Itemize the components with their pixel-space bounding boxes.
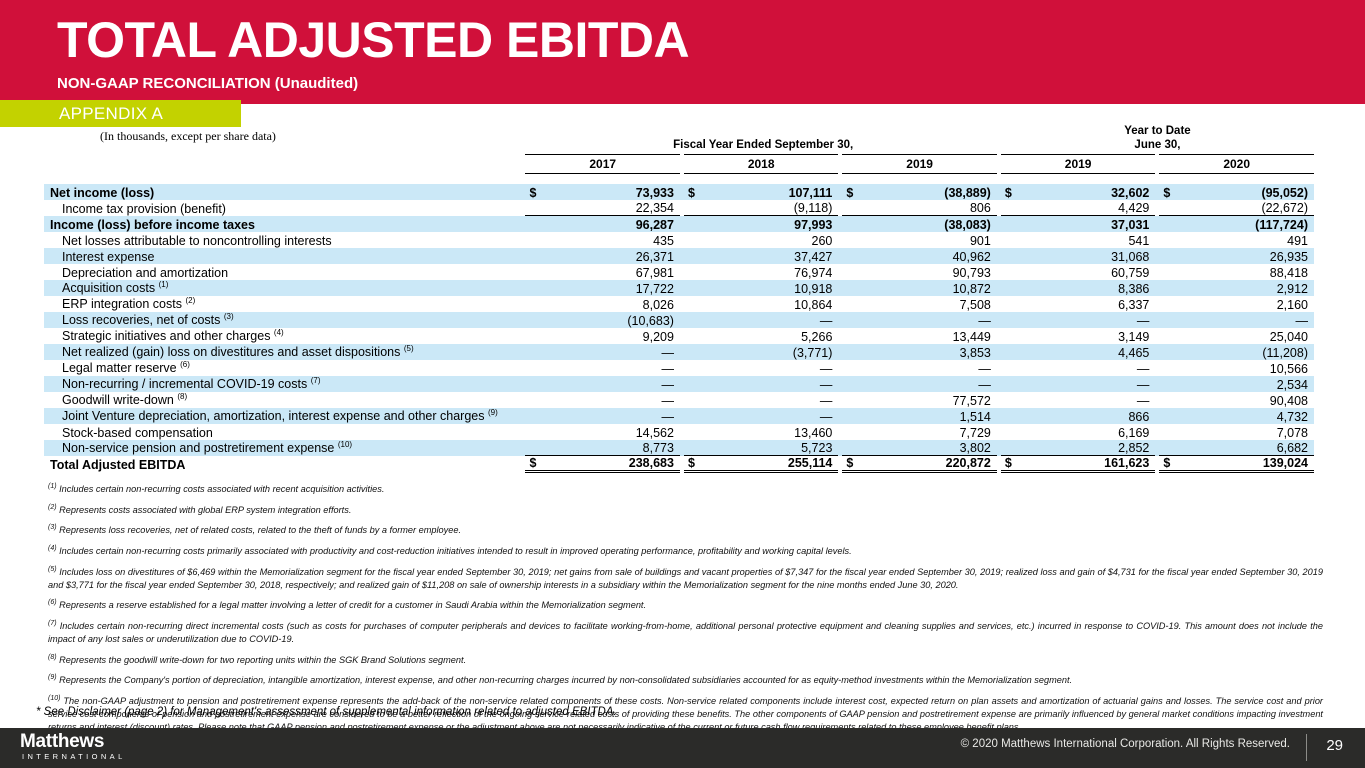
footnotes-list: (1) Includes certain non-recurring costs… bbox=[48, 482, 1323, 741]
currency-symbol-cell bbox=[842, 264, 862, 280]
currency-symbol-cell bbox=[842, 312, 862, 328]
row-label: Joint Venture depreciation, amortization… bbox=[44, 408, 525, 424]
data-cell: — bbox=[704, 360, 838, 376]
data-cell: 10,872 bbox=[862, 280, 996, 296]
footnote: (4) Includes certain non-recurring costs… bbox=[48, 544, 1323, 558]
table-row: Loss recoveries, net of costs (3)(10,683… bbox=[44, 312, 1314, 328]
currency-symbol-cell bbox=[684, 200, 704, 216]
currency-symbol-cell bbox=[525, 328, 545, 344]
row-label: Income tax provision (benefit) bbox=[44, 200, 525, 216]
col-group-fiscal-year: Fiscal Year Ended September 30, bbox=[525, 125, 1000, 155]
footnote-marker: (4) bbox=[48, 545, 57, 552]
currency-symbol-cell bbox=[842, 280, 862, 296]
currency-symbol-cell bbox=[1159, 328, 1179, 344]
table-row: ERP integration costs (2)8,02610,8647,50… bbox=[44, 296, 1314, 312]
data-cell: 22,354 bbox=[546, 200, 680, 216]
data-cell: 6,337 bbox=[1021, 296, 1155, 312]
data-cell: 435 bbox=[546, 232, 680, 248]
row-label: ERP integration costs (2) bbox=[44, 296, 525, 312]
total-currency-symbol: $ bbox=[1159, 456, 1179, 472]
data-cell: 13,460 bbox=[704, 424, 838, 440]
table-row: Net losses attributable to noncontrollin… bbox=[44, 232, 1314, 248]
data-cell: 40,962 bbox=[862, 248, 996, 264]
data-cell: 8,386 bbox=[1021, 280, 1155, 296]
currency-symbol-cell bbox=[684, 328, 704, 344]
currency-symbol-cell bbox=[1159, 392, 1179, 408]
matthews-logo: Matthews bbox=[20, 731, 104, 753]
data-cell: 67,981 bbox=[546, 264, 680, 280]
table-row: Non-recurring / incremental COVID-19 cos… bbox=[44, 376, 1314, 392]
footnote: (3) Represents loss recoveries, net of r… bbox=[48, 523, 1323, 537]
data-cell: (38,083) bbox=[862, 216, 996, 232]
footnote: (8) Represents the goodwill write-down f… bbox=[48, 653, 1323, 667]
row-label: Stock-based compensation bbox=[44, 424, 525, 440]
currency-symbol-cell bbox=[1159, 280, 1179, 296]
data-cell: 60,759 bbox=[1021, 264, 1155, 280]
row-label: Net losses attributable to noncontrollin… bbox=[44, 232, 525, 248]
currency-symbol-cell bbox=[684, 440, 704, 456]
currency-symbol-cell bbox=[684, 376, 704, 392]
row-label: Net realized (gain) loss on divestitures… bbox=[44, 344, 525, 360]
table-row: Stock-based compensation14,56213,4607,72… bbox=[44, 424, 1314, 440]
currency-symbol-cell bbox=[842, 376, 862, 392]
row-label: Income (loss) before income taxes bbox=[44, 216, 525, 232]
currency-symbol-cell bbox=[1001, 344, 1021, 360]
ytd-line2: June 30, bbox=[1001, 139, 1314, 153]
currency-symbol-cell bbox=[1001, 216, 1021, 232]
currency-symbol-cell bbox=[842, 248, 862, 264]
total-data-cell: 220,872 bbox=[862, 456, 996, 472]
col-header-2017: 2017 bbox=[525, 155, 679, 174]
table-row: Net realized (gain) loss on divestitures… bbox=[44, 344, 1314, 360]
data-cell: 806 bbox=[862, 200, 996, 216]
footnote-marker: (6) bbox=[48, 599, 57, 606]
currency-symbol-cell bbox=[525, 440, 545, 456]
currency-symbol-cell bbox=[525, 232, 545, 248]
data-cell: — bbox=[704, 312, 838, 328]
currency-symbol-cell bbox=[1001, 408, 1021, 424]
currency-symbol-cell bbox=[684, 248, 704, 264]
footnote: (1) Includes certain non-recurring costs… bbox=[48, 482, 1323, 496]
data-cell: 96,287 bbox=[546, 216, 680, 232]
currency-symbol-cell: $ bbox=[525, 184, 545, 200]
currency-symbol-cell bbox=[525, 200, 545, 216]
data-cell: 14,562 bbox=[546, 424, 680, 440]
data-cell: 32,602 bbox=[1021, 184, 1155, 200]
footnote-marker: (8) bbox=[48, 654, 57, 661]
data-cell: 7,078 bbox=[1179, 424, 1314, 440]
data-cell: (22,672) bbox=[1179, 200, 1314, 216]
currency-symbol-cell bbox=[842, 360, 862, 376]
data-cell: 866 bbox=[1021, 408, 1155, 424]
col-header-2020-ytd: 2020 bbox=[1159, 155, 1314, 174]
data-cell: 77,572 bbox=[862, 392, 996, 408]
data-cell: (95,052) bbox=[1179, 184, 1314, 200]
data-cell: 4,465 bbox=[1021, 344, 1155, 360]
footnote-marker: (2) bbox=[48, 504, 57, 511]
currency-symbol-cell bbox=[842, 200, 862, 216]
data-cell: — bbox=[1021, 360, 1155, 376]
total-currency-symbol: $ bbox=[1001, 456, 1021, 472]
ytd-line1: Year to Date bbox=[1001, 125, 1314, 139]
data-cell: 5,266 bbox=[704, 328, 838, 344]
col-header-2018: 2018 bbox=[684, 155, 838, 174]
footnote: (7) Includes certain non-recurring direc… bbox=[48, 619, 1323, 646]
data-cell: (117,724) bbox=[1179, 216, 1314, 232]
footnote-marker: (8) bbox=[177, 392, 187, 401]
currency-symbol-cell bbox=[525, 424, 545, 440]
data-cell: 26,935 bbox=[1179, 248, 1314, 264]
currency-symbol-cell bbox=[684, 280, 704, 296]
total-currency-symbol: $ bbox=[525, 456, 545, 472]
currency-symbol-cell bbox=[525, 392, 545, 408]
data-cell: 2,912 bbox=[1179, 280, 1314, 296]
data-cell: 6,169 bbox=[1021, 424, 1155, 440]
data-cell: 4,429 bbox=[1021, 200, 1155, 216]
data-cell: 26,371 bbox=[546, 248, 680, 264]
data-cell: — bbox=[546, 360, 680, 376]
currency-symbol-cell bbox=[1159, 376, 1179, 392]
currency-symbol-cell bbox=[1001, 392, 1021, 408]
table-header: Fiscal Year Ended September 30, Year to … bbox=[44, 125, 1314, 184]
data-cell: 1,514 bbox=[862, 408, 996, 424]
row-label: Depreciation and amortization bbox=[44, 264, 525, 280]
data-cell: 10,864 bbox=[704, 296, 838, 312]
currency-symbol-cell bbox=[684, 344, 704, 360]
currency-symbol-cell bbox=[1001, 424, 1021, 440]
row-label: Goodwill write-down (8) bbox=[44, 392, 525, 408]
currency-symbol-cell bbox=[1159, 344, 1179, 360]
currency-symbol-cell bbox=[842, 344, 862, 360]
data-cell: 73,933 bbox=[546, 184, 680, 200]
currency-symbol-cell bbox=[684, 296, 704, 312]
data-cell: 9,209 bbox=[546, 328, 680, 344]
data-cell: 90,793 bbox=[862, 264, 996, 280]
page-title: TOTAL ADJUSTED EBITDA bbox=[57, 14, 689, 67]
col-group-ytd: Year to Date June 30, bbox=[1001, 125, 1314, 155]
total-currency-symbol: $ bbox=[684, 456, 704, 472]
data-cell: — bbox=[704, 376, 838, 392]
currency-symbol-cell bbox=[1159, 200, 1179, 216]
currency-symbol-cell bbox=[842, 440, 862, 456]
data-cell: 97,993 bbox=[704, 216, 838, 232]
currency-symbol-cell bbox=[1159, 216, 1179, 232]
table-row: Strategic initiatives and other charges … bbox=[44, 328, 1314, 344]
currency-symbol-cell bbox=[1001, 264, 1021, 280]
footnote: (2) Represents costs associated with glo… bbox=[48, 503, 1323, 517]
data-cell: 88,418 bbox=[1179, 264, 1314, 280]
appendix-label: APPENDIX A bbox=[59, 104, 163, 124]
currency-symbol-cell bbox=[842, 408, 862, 424]
data-cell: — bbox=[704, 392, 838, 408]
currency-symbol-cell bbox=[684, 264, 704, 280]
data-cell: — bbox=[704, 408, 838, 424]
data-cell: 13,449 bbox=[862, 328, 996, 344]
currency-symbol-cell bbox=[1159, 312, 1179, 328]
row-label: Net income (loss) bbox=[44, 184, 525, 200]
table-row: Income tax provision (benefit)22,354(9,1… bbox=[44, 200, 1314, 216]
data-cell: 2,160 bbox=[1179, 296, 1314, 312]
footnote-marker: (1) bbox=[159, 280, 169, 289]
currency-symbol-cell bbox=[525, 312, 545, 328]
total-data-cell: 255,114 bbox=[704, 456, 838, 472]
data-cell: 37,427 bbox=[704, 248, 838, 264]
data-cell: 17,722 bbox=[546, 280, 680, 296]
data-cell: — bbox=[862, 360, 996, 376]
data-cell: 2,852 bbox=[1021, 440, 1155, 456]
matthews-logo-subtitle: INTERNATIONAL bbox=[22, 752, 126, 761]
row-label: Acquisition costs (1) bbox=[44, 280, 525, 296]
footnote-marker: (10) bbox=[338, 440, 352, 449]
header-group-row: Fiscal Year Ended September 30, Year to … bbox=[44, 125, 1314, 155]
data-cell: 4,732 bbox=[1179, 408, 1314, 424]
currency-symbol-cell bbox=[842, 232, 862, 248]
data-cell: — bbox=[1021, 312, 1155, 328]
table-row: Net income (loss)$73,933$107,111$(38,889… bbox=[44, 184, 1314, 200]
data-cell: 901 bbox=[862, 232, 996, 248]
col-header-2019-ytd: 2019 bbox=[1001, 155, 1155, 174]
data-cell: (9,118) bbox=[704, 200, 838, 216]
data-cell: 10,566 bbox=[1179, 360, 1314, 376]
footnote-marker: (4) bbox=[274, 328, 284, 337]
currency-symbol-cell bbox=[1159, 360, 1179, 376]
footnote-marker: (9) bbox=[488, 408, 498, 417]
currency-symbol-cell bbox=[1001, 280, 1021, 296]
currency-symbol-cell bbox=[1001, 248, 1021, 264]
currency-symbol-cell bbox=[842, 424, 862, 440]
slide-root: TOTAL ADJUSTED EBITDA NON-GAAP RECONCILI… bbox=[0, 0, 1365, 768]
data-cell: 7,508 bbox=[862, 296, 996, 312]
footnote-marker: (1) bbox=[48, 483, 57, 490]
currency-symbol-cell bbox=[684, 408, 704, 424]
currency-symbol-cell bbox=[684, 360, 704, 376]
data-cell: (3,771) bbox=[704, 344, 838, 360]
data-cell: 7,729 bbox=[862, 424, 996, 440]
data-cell: (10,683) bbox=[546, 312, 680, 328]
data-cell: 8,773 bbox=[546, 440, 680, 456]
data-cell: — bbox=[546, 408, 680, 424]
currency-symbol-cell bbox=[684, 312, 704, 328]
footnote-marker: (7) bbox=[311, 376, 321, 385]
currency-symbol-cell bbox=[525, 408, 545, 424]
data-cell: (38,889) bbox=[862, 184, 996, 200]
currency-symbol-cell bbox=[1001, 328, 1021, 344]
currency-symbol-cell bbox=[1159, 248, 1179, 264]
currency-symbol-cell bbox=[1001, 376, 1021, 392]
row-label: Non-service pension and postretirement e… bbox=[44, 440, 525, 456]
data-cell: 3,853 bbox=[862, 344, 996, 360]
currency-symbol-cell bbox=[1159, 232, 1179, 248]
row-label: Non-recurring / incremental COVID-19 cos… bbox=[44, 376, 525, 392]
data-cell: 491 bbox=[1179, 232, 1314, 248]
table-row: Interest expense26,37137,42740,96231,068… bbox=[44, 248, 1314, 264]
total-data-cell: 161,623 bbox=[1021, 456, 1155, 472]
row-label: Loss recoveries, net of costs (3) bbox=[44, 312, 525, 328]
table-row: Non-service pension and postretirement e… bbox=[44, 440, 1314, 456]
currency-symbol-cell bbox=[525, 216, 545, 232]
footnote-marker: (7) bbox=[48, 620, 57, 627]
data-cell: 260 bbox=[704, 232, 838, 248]
currency-symbol-cell bbox=[1159, 424, 1179, 440]
currency-symbol-cell bbox=[1159, 296, 1179, 312]
total-row-label: Total Adjusted EBITDA bbox=[44, 456, 525, 472]
copyright-text: © 2020 Matthews International Corporatio… bbox=[961, 738, 1290, 750]
data-cell: 90,408 bbox=[1179, 392, 1314, 408]
total-data-cell: 238,683 bbox=[546, 456, 680, 472]
table-body: Net income (loss)$73,933$107,111$(38,889… bbox=[44, 184, 1314, 472]
table-row: Depreciation and amortization67,98176,97… bbox=[44, 264, 1314, 280]
data-cell: 3,149 bbox=[1021, 328, 1155, 344]
currency-symbol-cell bbox=[1001, 360, 1021, 376]
currency-symbol-cell bbox=[1159, 408, 1179, 424]
data-cell: — bbox=[546, 376, 680, 392]
currency-symbol-cell: $ bbox=[684, 184, 704, 200]
data-cell: 37,031 bbox=[1021, 216, 1155, 232]
footnote-marker: (6) bbox=[180, 360, 190, 369]
footnote: (5) Includes loss on divestitures of $6,… bbox=[48, 565, 1323, 592]
data-cell: — bbox=[1179, 312, 1314, 328]
table-row: Goodwill write-down (8)——77,572—90,408 bbox=[44, 392, 1314, 408]
currency-symbol-cell bbox=[1001, 232, 1021, 248]
currency-symbol-cell bbox=[525, 344, 545, 360]
currency-symbol-cell bbox=[1001, 200, 1021, 216]
currency-symbol-cell bbox=[842, 328, 862, 344]
currency-symbol-cell bbox=[1001, 440, 1021, 456]
data-cell: — bbox=[546, 392, 680, 408]
disclaimer-text: * See Disclaimer (page 2) for Management… bbox=[36, 706, 617, 718]
currency-symbol-cell bbox=[842, 216, 862, 232]
row-label: Legal matter reserve (6) bbox=[44, 360, 525, 376]
currency-symbol-cell bbox=[525, 376, 545, 392]
data-cell: 76,974 bbox=[704, 264, 838, 280]
page-subtitle: NON-GAAP RECONCILIATION (Unaudited) bbox=[57, 75, 358, 92]
currency-symbol-cell: $ bbox=[1159, 184, 1179, 200]
currency-symbol-cell bbox=[684, 232, 704, 248]
data-cell: 2,534 bbox=[1179, 376, 1314, 392]
financial-table: Fiscal Year Ended September 30, Year to … bbox=[44, 125, 1314, 473]
footnote-marker: (3) bbox=[224, 312, 234, 321]
data-cell: — bbox=[546, 344, 680, 360]
data-cell: 3,802 bbox=[862, 440, 996, 456]
financial-table-wrap: Fiscal Year Ended September 30, Year to … bbox=[44, 125, 1314, 473]
footer-divider bbox=[1306, 734, 1307, 761]
data-cell: 541 bbox=[1021, 232, 1155, 248]
table-row: Acquisition costs (1)17,72210,91810,8728… bbox=[44, 280, 1314, 296]
currency-symbol-cell bbox=[525, 360, 545, 376]
total-row: Total Adjusted EBITDA$238,683$255,114$22… bbox=[44, 456, 1314, 472]
currency-symbol-cell bbox=[684, 216, 704, 232]
footnote-marker: (3) bbox=[48, 524, 57, 531]
col-header-2019-fy: 2019 bbox=[842, 155, 996, 174]
table-row: Legal matter reserve (6)————10,566 bbox=[44, 360, 1314, 376]
currency-symbol-cell bbox=[525, 248, 545, 264]
data-cell: 8,026 bbox=[546, 296, 680, 312]
currency-symbol-cell bbox=[1159, 264, 1179, 280]
currency-symbol-cell bbox=[842, 392, 862, 408]
data-cell: — bbox=[1021, 392, 1155, 408]
page-number: 29 bbox=[1326, 737, 1343, 754]
footnote: (6) Represents a reserve established for… bbox=[48, 598, 1323, 612]
data-cell: 6,682 bbox=[1179, 440, 1314, 456]
total-data-cell: 139,024 bbox=[1179, 456, 1314, 472]
currency-symbol-cell bbox=[1001, 312, 1021, 328]
data-cell: 5,723 bbox=[704, 440, 838, 456]
currency-symbol-cell: $ bbox=[1001, 184, 1021, 200]
currency-symbol-cell bbox=[1159, 440, 1179, 456]
data-cell: — bbox=[862, 376, 996, 392]
footnote-marker: (9) bbox=[48, 674, 57, 681]
row-label: Interest expense bbox=[44, 248, 525, 264]
data-cell: 31,068 bbox=[1021, 248, 1155, 264]
data-cell: 25,040 bbox=[1179, 328, 1314, 344]
total-currency-symbol: $ bbox=[842, 456, 862, 472]
currency-symbol-cell: $ bbox=[842, 184, 862, 200]
data-cell: 10,918 bbox=[704, 280, 838, 296]
footnote-marker: (2) bbox=[185, 296, 195, 305]
data-cell: (11,208) bbox=[1179, 344, 1314, 360]
currency-symbol-cell bbox=[525, 280, 545, 296]
currency-symbol-cell bbox=[1001, 296, 1021, 312]
footnote-marker: (5) bbox=[404, 344, 414, 353]
currency-symbol-cell bbox=[684, 392, 704, 408]
header-spacer-row bbox=[44, 174, 1314, 184]
data-cell: — bbox=[1021, 376, 1155, 392]
table-row: Income (loss) before income taxes96,2879… bbox=[44, 216, 1314, 232]
data-cell: — bbox=[862, 312, 996, 328]
table-row: Joint Venture depreciation, amortization… bbox=[44, 408, 1314, 424]
footnote: (9) Represents the Company's portion of … bbox=[48, 673, 1323, 687]
currency-symbol-cell bbox=[525, 264, 545, 280]
footnote-marker: (5) bbox=[48, 566, 57, 573]
row-label: Strategic initiatives and other charges … bbox=[44, 328, 525, 344]
currency-symbol-cell bbox=[525, 296, 545, 312]
currency-symbol-cell bbox=[842, 296, 862, 312]
data-cell: 107,111 bbox=[704, 184, 838, 200]
currency-symbol-cell bbox=[684, 424, 704, 440]
footnote-marker: (10) bbox=[48, 695, 60, 702]
header-year-row: 2017 2018 2019 2019 2020 bbox=[44, 155, 1314, 174]
